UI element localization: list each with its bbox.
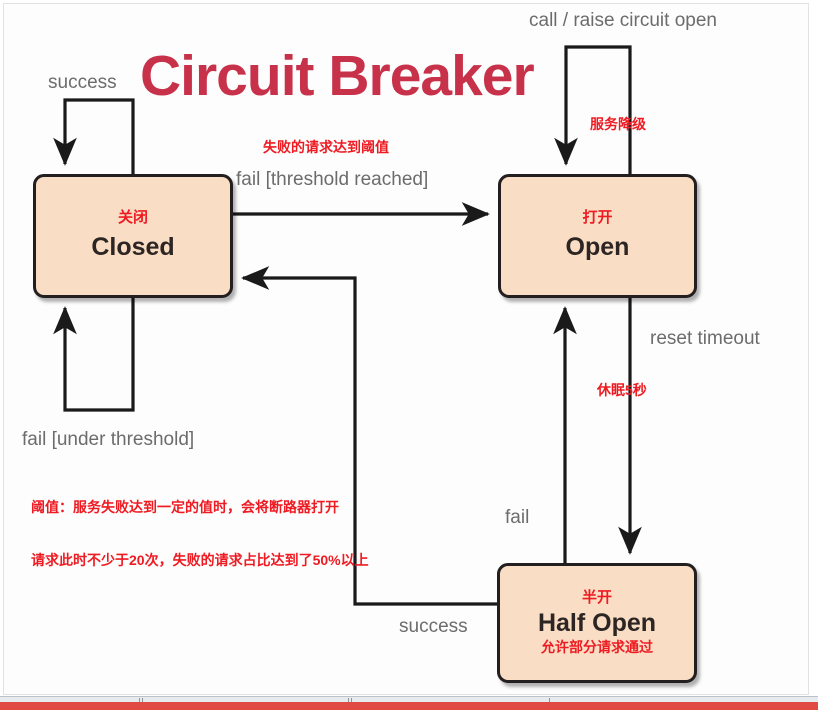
edge-label-open-self-call: call / raise circuit open	[529, 11, 717, 30]
state-label-cn-closed: 关闭	[118, 210, 148, 227]
edge-label-cn-closed-to-open: 失败的请求达到阈值	[263, 140, 389, 154]
edge-label-cn-open-self-call: 服务降级	[590, 117, 646, 131]
state-label-en-half-open: Half Open	[538, 609, 656, 638]
arrow-closed-self-fail	[65, 298, 133, 410]
edge-label-cn-open-to-half-open: 休眠5秒	[597, 383, 647, 397]
edge-label-closed-to-open: fail [threshold reached]	[236, 170, 428, 189]
arrow-closed-self-success	[65, 100, 133, 174]
page-title: Circuit Breaker	[140, 48, 534, 105]
state-node-half-open[interactable]: 半开 Half Open 允许部分请求通过	[497, 563, 697, 683]
state-node-closed[interactable]: 关闭 Closed	[33, 174, 233, 298]
edge-label-closed-self-success: success	[48, 73, 117, 92]
state-label-en-open: Open	[566, 233, 630, 262]
edge-label-half-open-to-closed: success	[399, 617, 468, 636]
annotation-threshold-numbers: 请求此时不少于20次，失败的请求占比达到了50%以上	[31, 553, 369, 567]
screenshot-canvas: Circuit Breaker 关闭 Closed 打开 Open 半开 Hal…	[0, 0, 818, 710]
state-node-open[interactable]: 打开 Open	[498, 174, 697, 298]
edge-label-half-open-to-open: fail	[505, 508, 529, 527]
edge-label-closed-self-fail: fail [under threshold]	[22, 430, 194, 449]
bottom-accent-bar	[0, 702, 818, 710]
annotation-threshold-definition: 阈值：服务失败达到一定的值时，会将断路器打开	[31, 500, 339, 514]
edge-label-open-to-half-open: reset timeout	[650, 329, 760, 348]
state-label-cn-open: 打开	[582, 210, 612, 227]
state-label-cn-half-open: 半开	[582, 590, 612, 607]
state-note-half-open: 允许部分请求通过	[541, 640, 653, 655]
state-label-en-closed: Closed	[91, 233, 174, 262]
arrow-open-self-call	[566, 47, 630, 174]
